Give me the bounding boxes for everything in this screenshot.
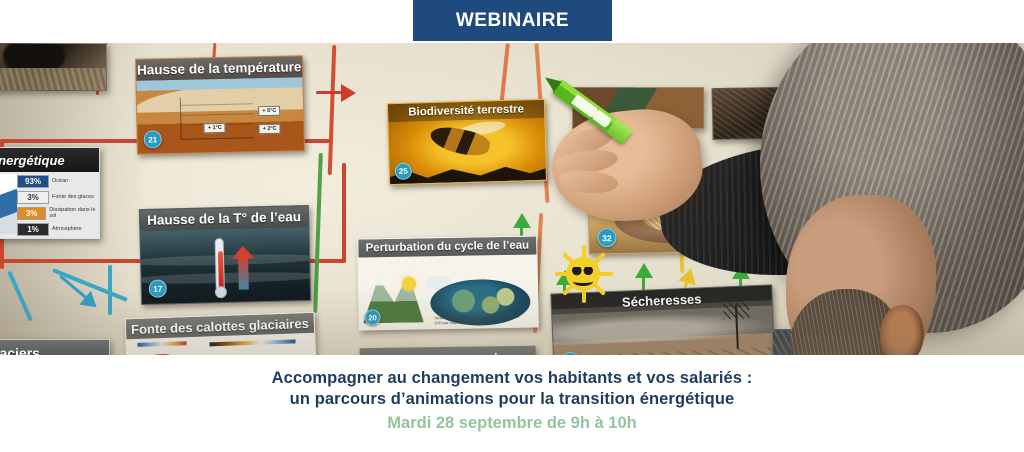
energy-row: 3% Fonte des glaces xyxy=(17,190,94,204)
arrow-head xyxy=(635,263,653,278)
temp-chip: + 2°C xyxy=(259,124,281,134)
caption-block: Accompagner au changement vos habitants … xyxy=(0,358,1024,452)
temp-chip: + 5°C xyxy=(258,106,280,116)
foreground-silhouette xyxy=(390,162,546,184)
energy-row: 93% Océan xyxy=(17,174,68,188)
caption-line-1: Accompagner au changement vos habitants … xyxy=(0,368,1024,389)
card-hausse-temperature: + 1°C + 5°C + 2°C Hausse de la températu… xyxy=(135,55,305,154)
energy-label: Océan xyxy=(52,178,68,184)
card-title: Perturbation du cycle de l’eau xyxy=(358,236,536,257)
chart-axes xyxy=(180,96,254,140)
card-photo-soil xyxy=(0,43,107,91)
wave-line xyxy=(139,253,311,268)
card-body: 93% Océan 3% Fonte des glaces 3% Dissipa… xyxy=(0,172,99,238)
card-title: Hausse de la T° de l’eau xyxy=(140,206,308,231)
energy-label: Atmosphère xyxy=(52,226,82,232)
energy-row: 3% Dissipation dans le sol xyxy=(17,206,99,220)
hero-photo: t énergétique 93% Océan 3% Fonte des gla… xyxy=(0,43,1024,355)
webinar-promo-banner: WEBINAIRE xyxy=(0,0,1024,452)
red-stroke-7 xyxy=(342,163,346,263)
caption-date: Mardi 28 septembre de 9h à 10h xyxy=(0,412,1024,434)
card-biodiversite-terrestre: Biodiversité terrestre 25 xyxy=(387,99,547,185)
temp-chip: + 1°C xyxy=(204,123,226,133)
card-glaciers: glaciers xyxy=(0,339,110,355)
pie-wedge xyxy=(0,174,17,234)
grid-line xyxy=(181,113,253,116)
energy-pct: 3% xyxy=(17,207,46,220)
energy-pct: 3% xyxy=(17,191,49,204)
energy-label: Dissipation dans le sol xyxy=(49,207,99,219)
arrow-head xyxy=(341,84,356,102)
energy-row: 1% Atmosphère xyxy=(17,222,82,236)
energy-pct: 1% xyxy=(17,223,49,236)
energy-pct: 93% xyxy=(17,175,49,188)
paper-shadow-bottom xyxy=(0,285,1024,355)
soil-texture xyxy=(0,68,106,90)
arrow-head xyxy=(513,213,531,228)
energy-label: Fonte des glaces xyxy=(52,194,94,200)
grid-line xyxy=(181,103,253,106)
webinaire-badge: WEBINAIRE xyxy=(413,0,612,41)
card-bilan-energetique: t énergétique 93% Océan 3% Fonte des gla… xyxy=(0,147,100,239)
caption-line-2: un parcours d’animations pour la transit… xyxy=(0,389,1024,410)
card-title: t énergétique xyxy=(0,148,99,172)
card-body: + 1°C + 5°C + 2°C xyxy=(136,77,303,153)
card-title: Hausse de la température xyxy=(136,56,302,80)
card-title: glaciers xyxy=(0,340,109,355)
